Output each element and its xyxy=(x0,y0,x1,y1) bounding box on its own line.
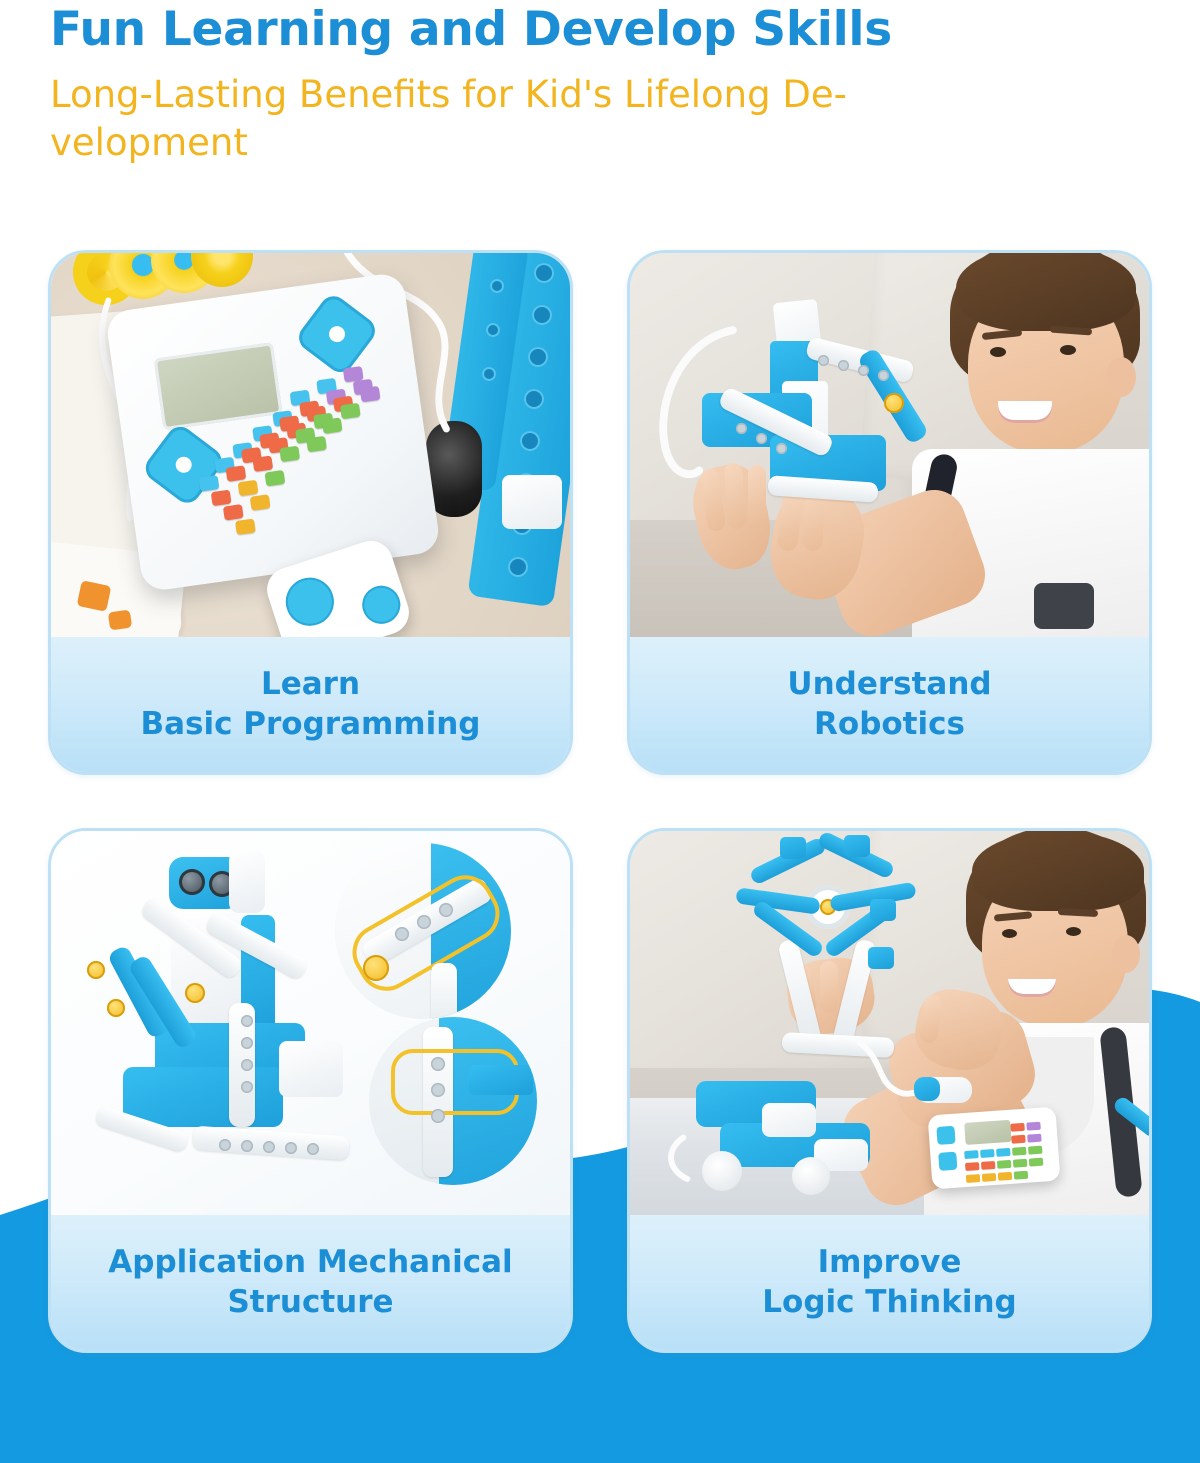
page-subtitle-line2: velopment xyxy=(50,119,1110,168)
benefit-card-grid: Learn Basic Programming xyxy=(48,250,1152,1353)
card-caption-understand-robotics: Understand Robotics xyxy=(630,637,1149,772)
caption-line-1: Understand xyxy=(787,665,991,705)
caption-line-1: Improve xyxy=(818,1243,962,1283)
page-subtitle-line1: Long-Lasting Benefits for Kid's Lifelong… xyxy=(50,71,1110,120)
page-title: Fun Learning and Develop Skills xyxy=(50,4,1160,57)
card-caption-application-mechanical-structure: Application Mechanical Structure xyxy=(51,1215,570,1350)
caption-line-2: Basic Programming xyxy=(141,705,481,745)
heading-block: Fun Learning and Develop Skills Long-Las… xyxy=(50,4,1160,168)
benefit-card-learn-basic-programming[interactable]: Learn Basic Programming xyxy=(48,250,573,775)
caption-line-1: Learn xyxy=(261,665,360,705)
robot-mechanical-structure-closeups-photo xyxy=(51,831,570,1218)
boy-holding-blue-robot-photo xyxy=(630,253,1149,640)
benefit-card-application-mechanical-structure[interactable]: Application Mechanical Structure xyxy=(48,828,573,1353)
programming-remote-controller-photo xyxy=(51,253,570,640)
card-caption-improve-logic-thinking: Improve Logic Thinking xyxy=(630,1215,1149,1350)
caption-line-2: Structure xyxy=(227,1283,393,1323)
benefit-card-improve-logic-thinking[interactable]: Improve Logic Thinking xyxy=(627,828,1152,1353)
caption-line-2: Logic Thinking xyxy=(762,1283,1016,1323)
promo-page: Fun Learning and Develop Skills Long-Las… xyxy=(0,0,1200,1463)
caption-line-2: Robotics xyxy=(814,705,965,745)
card-caption-learn-basic-programming: Learn Basic Programming xyxy=(51,637,570,772)
caption-line-1: Application Mechanical xyxy=(108,1243,512,1283)
card-row-1: Learn Basic Programming xyxy=(48,250,1152,775)
page-subtitle: Long-Lasting Benefits for Kid's Lifelong… xyxy=(50,71,1110,169)
boy-with-ferris-wheel-robot-and-remote-photo xyxy=(630,831,1149,1218)
benefit-card-understand-robotics[interactable]: Understand Robotics xyxy=(627,250,1152,775)
card-row-2: Application Mechanical Structure xyxy=(48,828,1152,1353)
